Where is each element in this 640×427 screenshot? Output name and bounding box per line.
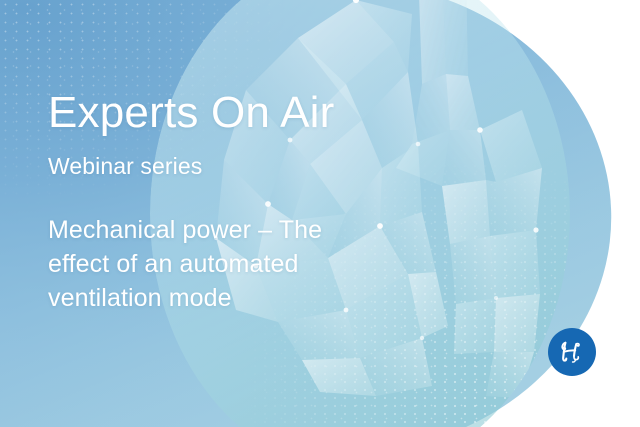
hero-subtitle: Webinar series — [48, 152, 202, 180]
page-title: Experts On Air — [48, 88, 334, 138]
hero-lede-line-2: effect of an automated — [48, 247, 322, 281]
hero-lede-line-3: ventilation mode — [48, 281, 322, 315]
hero-lede: Mechanical power – The effect of an auto… — [48, 213, 322, 315]
hamilton-medical-logo-icon — [548, 328, 596, 376]
hero-lede-line-1: Mechanical power – The — [48, 213, 322, 247]
webinar-title-slide: Experts On Air Webinar series Mechanical… — [0, 0, 640, 427]
